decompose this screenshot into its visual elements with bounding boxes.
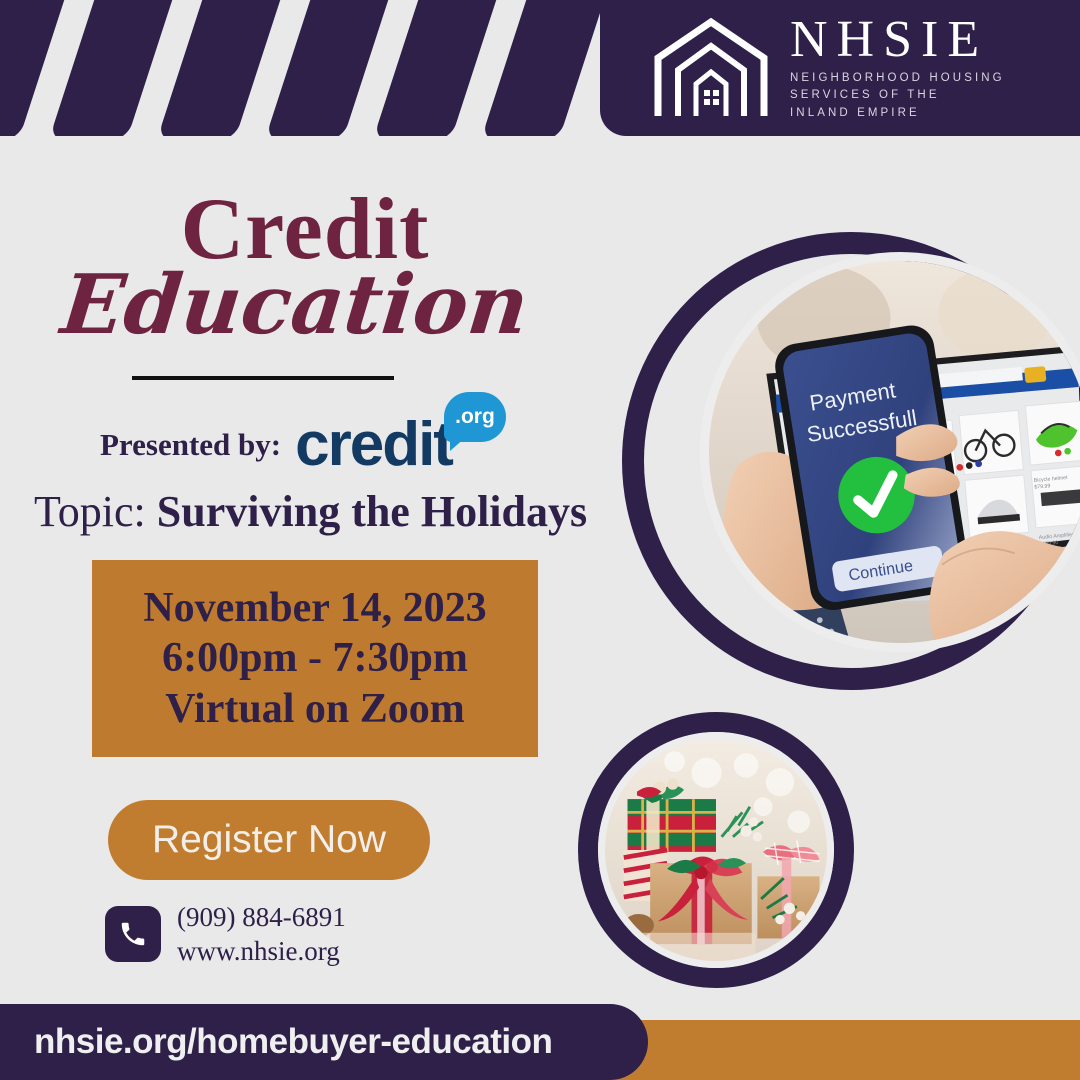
gift-photo [598, 732, 834, 968]
org-name-line2: SERVICES OF THE [790, 87, 1005, 104]
contact-block: (909) 884-6891 www.nhsie.org [105, 900, 346, 968]
phone-glyph [118, 919, 148, 949]
topic-value: Surviving the Holidays [157, 487, 587, 536]
credit-org-tld-text: .org [455, 405, 495, 429]
contact-phone[interactable]: (909) 884-6891 [177, 900, 346, 934]
register-button-label: Register Now [152, 818, 386, 862]
credit-org-wordmark: credit [295, 414, 452, 476]
credit-org-tld-bubble: .org [444, 392, 506, 442]
phone-icon [105, 906, 161, 962]
title-divider [132, 376, 394, 380]
footer-url-text: nhsie.org/homebuyer-education [34, 1022, 552, 1062]
event-date: November 14, 2023 [143, 583, 486, 633]
brand-header: NHSIE NEIGHBORHOOD HOUSING SERVICES OF T… [600, 0, 1080, 136]
main-photo: Search Sale [700, 252, 1080, 652]
decorative-stripes [0, 0, 620, 136]
presenter-row: Presented by: credit .org [100, 414, 452, 476]
nhsie-house-logo-icon [652, 16, 770, 120]
topic-label: Topic: [34, 487, 146, 536]
flyer-canvas: NHSIE NEIGHBORHOOD HOUSING SERVICES OF T… [0, 0, 1080, 1080]
topic-line: Topic: Surviving the Holidays [34, 486, 587, 537]
org-name-line1: NEIGHBORHOOD HOUSING [790, 70, 1005, 87]
credit-org-logo: credit .org [295, 414, 452, 476]
org-name-line3: INLAND EMPIRE [790, 105, 1005, 122]
event-details-box: November 14, 2023 6:00pm - 7:30pm Virtua… [92, 560, 538, 757]
payment-photo-illustration: Search Sale [709, 261, 1080, 643]
register-button[interactable]: Register Now [108, 800, 430, 880]
footer-url-bar[interactable]: nhsie.org/homebuyer-education [0, 1004, 648, 1080]
headline-script: Education [0, 262, 595, 348]
org-abbreviation: NHSIE [790, 14, 1005, 66]
event-time: 6:00pm - 7:30pm [162, 633, 468, 683]
contact-website[interactable]: www.nhsie.org [177, 934, 346, 968]
stripe [481, 0, 617, 136]
event-location: Virtual on Zoom [165, 684, 464, 734]
presented-by-label: Presented by: [100, 427, 281, 463]
christmas-gifts-illustration [605, 739, 827, 961]
